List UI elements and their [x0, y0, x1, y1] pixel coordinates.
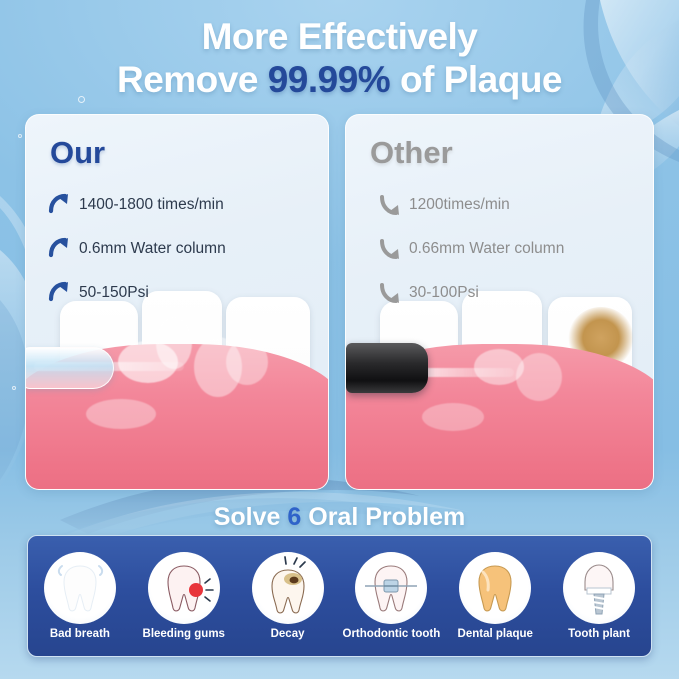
water-splash: [86, 399, 156, 429]
spec-list-other: 1200times/min 0.66mm Water column 30-100…: [378, 187, 564, 319]
problem-label: Decay: [238, 628, 338, 640]
spec-value: 50-150Psi: [79, 284, 149, 302]
problem-item-dental-plaque[interactable]: Dental plaque: [445, 552, 545, 640]
spec-value: 0.66mm Water column: [409, 240, 564, 258]
headline-line-2-pre: Remove: [117, 59, 268, 100]
spec-row: 50-150Psi: [48, 275, 226, 311]
problem-item-orthodontic-tooth[interactable]: Orthodontic tooth: [341, 552, 441, 640]
spec-row: 1200times/min: [378, 187, 564, 223]
tooth-odor-icon: [44, 552, 116, 624]
headline-line-2-post: of Plaque: [390, 59, 562, 100]
water-splash: [226, 339, 268, 385]
arrow-down-curved-icon: [378, 192, 404, 218]
headline-percentage: 99.99%: [268, 59, 391, 100]
problem-label: Dental plaque: [445, 628, 545, 640]
solve-title-post: Oral Problem: [301, 503, 465, 531]
tooth-braces-icon: [355, 552, 427, 624]
tooth-bleeding-icon: [148, 552, 220, 624]
arrow-up-curved-icon: [48, 280, 74, 306]
water-splash: [156, 317, 192, 369]
spec-value: 1400-1800 times/min: [79, 196, 224, 214]
nozzle-tip-black: [346, 343, 428, 393]
problem-label: Bad breath: [30, 628, 130, 640]
water-splash: [422, 403, 484, 431]
card-title-our: Our: [50, 135, 105, 171]
page-headline: More Effectively Remove 99.99% of Plaque: [0, 16, 679, 102]
spec-list-our: 1400-1800 times/min 0.6mm Water column 5…: [48, 187, 226, 319]
problem-item-decay[interactable]: Decay: [238, 552, 338, 640]
problem-label: Orthodontic tooth: [341, 628, 441, 640]
spec-row: 1400-1800 times/min: [48, 187, 226, 223]
spec-value: 0.6mm Water column: [79, 240, 226, 258]
oral-problems-bar: Bad breath Bleeding gums Decay: [27, 535, 652, 657]
spec-row: 0.6mm Water column: [48, 231, 226, 267]
spec-row: 0.66mm Water column: [378, 231, 564, 267]
solve-title-pre: Solve: [214, 503, 288, 531]
bubble-icon: [12, 386, 16, 390]
nozzle-tip-transparent: [26, 347, 114, 389]
problem-label: Tooth plant: [549, 628, 649, 640]
comparison-card-other: Other 1200times/min 0.66mm Water column …: [345, 114, 654, 490]
spec-value: 30-100Psi: [409, 284, 479, 302]
card-title-other: Other: [370, 135, 453, 171]
arrow-up-curved-icon: [48, 236, 74, 262]
comparison-card-our: Our 1400-1800 times/min 0.6mm Water colu…: [25, 114, 329, 490]
headline-line-1: More Effectively: [0, 16, 679, 58]
arrow-down-curved-icon: [378, 236, 404, 262]
bubble-icon: [18, 134, 22, 138]
headline-line-2: Remove 99.99% of Plaque: [0, 58, 679, 102]
tooth-yellow-icon: [459, 552, 531, 624]
arrow-down-curved-icon: [378, 280, 404, 306]
arrow-up-curved-icon: [48, 192, 74, 218]
solve-section-title: Solve 6 Oral Problem: [0, 503, 679, 532]
solve-title-count: 6: [287, 503, 301, 531]
problem-label: Bleeding gums: [134, 628, 234, 640]
problem-item-tooth-plant[interactable]: Tooth plant: [549, 552, 649, 640]
spec-row: 30-100Psi: [378, 275, 564, 311]
water-splash: [516, 353, 562, 401]
tooth-cavity-icon: [252, 552, 324, 624]
problem-item-bleeding-gums[interactable]: Bleeding gums: [134, 552, 234, 640]
dental-implant-icon: [563, 552, 635, 624]
problem-item-bad-breath[interactable]: Bad breath: [30, 552, 130, 640]
spec-value: 1200times/min: [409, 196, 510, 214]
